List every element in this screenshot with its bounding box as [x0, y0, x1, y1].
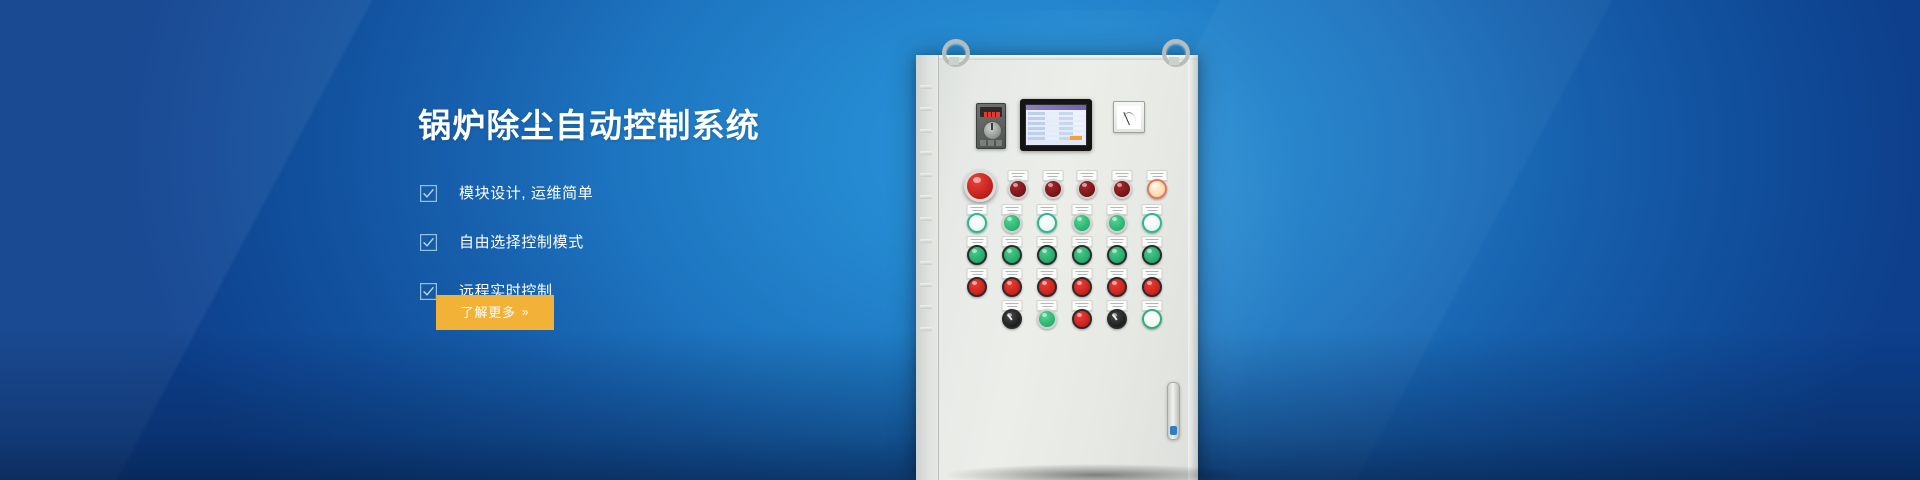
vfd-keypad-module[interactable]: [976, 103, 1006, 149]
indicator-lamp[interactable]: [1032, 204, 1062, 236]
lamp-green-icon[interactable]: [1072, 213, 1092, 233]
selector-switch-icon[interactable]: [1107, 309, 1127, 329]
indicator-lamp[interactable]: [1137, 300, 1167, 332]
analog-panel-meter: [1113, 101, 1145, 133]
list-item: 自由选择控制模式: [420, 226, 593, 259]
indicator-lamp[interactable]: [997, 268, 1027, 300]
indicator-lamp[interactable]: [1032, 268, 1062, 300]
vfd-buttons[interactable]: [980, 140, 1002, 146]
lamp-green-icon[interactable]: [1107, 245, 1127, 265]
indicator-lamp[interactable]: [1102, 268, 1132, 300]
learn-more-text: 了解更多: [461, 306, 516, 319]
checkbox-check-icon: [420, 234, 437, 251]
indicator-lamp[interactable]: [1032, 300, 1062, 332]
indicator-lamp-grid: [962, 170, 1177, 332]
vfd-digits: [984, 112, 1000, 117]
indicator-lamp[interactable]: [1003, 170, 1033, 202]
lamp-white-icon[interactable]: [967, 213, 987, 233]
lamp-white-icon[interactable]: [1142, 213, 1162, 233]
control-cabinet-photo: [880, 0, 1920, 480]
hmi-touch-panel[interactable]: [1020, 99, 1092, 151]
lifting-eye-icon: [942, 39, 970, 67]
list-item-label: 自由选择控制模式: [459, 234, 584, 251]
indicator-lamp[interactable]: [1067, 236, 1097, 268]
selector-switch[interactable]: [997, 300, 1027, 332]
checkbox-check-icon: [420, 185, 437, 202]
banner-content: 锅炉除尘自动控制系统 模块设计, 运维简单 自: [418, 0, 898, 480]
lamp-green-icon[interactable]: [1002, 245, 1022, 265]
hmi-screen[interactable]: [1025, 104, 1087, 146]
indicator-lamp[interactable]: [1142, 170, 1172, 202]
indicator-lamp[interactable]: [1102, 204, 1132, 236]
lamp-green-icon[interactable]: [1002, 213, 1022, 233]
lamp-white-icon[interactable]: [1037, 213, 1057, 233]
lamp-green-icon[interactable]: [1037, 245, 1057, 265]
emergency-stop-button[interactable]: [962, 170, 998, 202]
learn-more-button[interactable]: 了解更多 »: [436, 295, 554, 330]
meter-face: [1117, 106, 1141, 129]
lifting-eye-icon: [1162, 39, 1190, 67]
indicator-lamp[interactable]: [1137, 204, 1167, 236]
list-item: 模块设计, 运维简单: [420, 177, 593, 210]
lamp-green-icon[interactable]: [1142, 245, 1162, 265]
hero-banner: 锅炉除尘自动控制系统 模块设计, 运维简单 自: [0, 0, 1920, 480]
learn-more-button-label: 了解更多 »: [461, 306, 530, 319]
lamp-red-icon[interactable]: [1107, 277, 1127, 297]
hmi-title-bar: [1026, 105, 1086, 110]
vfd-dial-knob[interactable]: [983, 121, 1002, 140]
lamp-white-icon[interactable]: [1142, 309, 1162, 329]
lamp-row: [962, 204, 1177, 236]
lamp-red-icon[interactable]: [1072, 277, 1092, 297]
lamp-green-icon[interactable]: [1107, 213, 1127, 233]
lamp-dark-red-icon[interactable]: [1008, 179, 1028, 199]
checkbox-check-icon: [420, 283, 437, 300]
indicator-lamp[interactable]: [1107, 170, 1137, 202]
indicator-lamp[interactable]: [1137, 236, 1167, 268]
selector-switch-icon[interactable]: [1002, 309, 1022, 329]
lamp-red-icon[interactable]: [1002, 277, 1022, 297]
lamp-row: [962, 236, 1177, 268]
indicator-lamp[interactable]: [962, 236, 992, 268]
indicator-lamp[interactable]: [1067, 204, 1097, 236]
selector-switch[interactable]: [1102, 300, 1132, 332]
vfd-display: [980, 107, 1002, 117]
control-cabinet: [916, 55, 1198, 480]
indicator-lamp[interactable]: [1032, 236, 1062, 268]
indicator-lamp[interactable]: [962, 204, 992, 236]
lamp-green-icon[interactable]: [967, 245, 987, 265]
lamp-row: [962, 300, 1177, 332]
chevron-right-icon: »: [522, 306, 529, 319]
lamp-red-icon[interactable]: [967, 277, 987, 297]
indicator-lamp[interactable]: [997, 204, 1027, 236]
indicator-lamp[interactable]: [1137, 268, 1167, 300]
page-title: 锅炉除尘自动控制系统: [418, 105, 760, 147]
indicator-lamp[interactable]: [1102, 236, 1132, 268]
cabinet-hinge-strip: [916, 55, 939, 480]
indicator-lamp[interactable]: [1073, 170, 1103, 202]
indicator-lamp[interactable]: [1067, 268, 1097, 300]
lamp-row: [962, 268, 1177, 300]
lamp-dark-red-icon[interactable]: [1043, 179, 1063, 199]
lamp-green-icon[interactable]: [1072, 245, 1092, 265]
lamp-red-icon[interactable]: [1142, 277, 1162, 297]
indicator-lamp[interactable]: [962, 268, 992, 300]
lamp-green-icon[interactable]: [1037, 309, 1057, 329]
lamp-row: [962, 170, 1177, 204]
lamp-amber-icon[interactable]: [1147, 179, 1167, 199]
cabinet-shadow: [946, 464, 1246, 480]
lamp-dark-red-icon[interactable]: [1077, 179, 1097, 199]
indicator-lamp[interactable]: [1067, 300, 1097, 332]
cabinet-right-edge: [1188, 55, 1198, 480]
lamp-red-icon[interactable]: [1072, 309, 1092, 329]
lamp-red-icon[interactable]: [1037, 277, 1057, 297]
feature-list: 模块设计, 运维简单 自由选择控制模式 远程: [420, 177, 593, 308]
list-item-label: 模块设计, 运维简单: [459, 185, 593, 202]
indicator-lamp[interactable]: [997, 236, 1027, 268]
lamp-dark-red-icon[interactable]: [1112, 179, 1132, 199]
cabinet-door-handle[interactable]: [1167, 382, 1180, 440]
emergency-stop-icon[interactable]: [964, 170, 996, 202]
indicator-lamp[interactable]: [1038, 170, 1068, 202]
